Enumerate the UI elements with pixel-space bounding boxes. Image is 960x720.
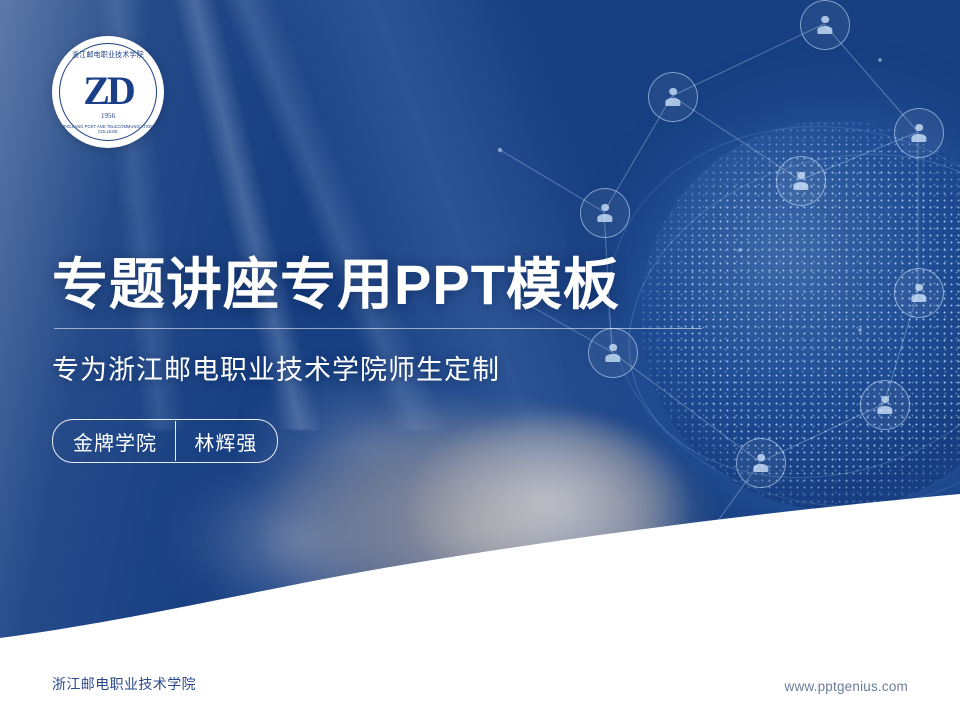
page-title: 专题讲座专用PPT模板	[52, 240, 620, 321]
presenter-badge-left-label: 金牌学院	[73, 427, 157, 456]
presenter-badge-divider	[175, 421, 176, 461]
logo-monogram: ZD	[83, 71, 133, 111]
presenter-badge: 金牌学院 林辉强	[52, 419, 278, 463]
logo-year: 1956	[52, 112, 164, 120]
logo-bottom-text: ZHEJIANG POST AND TELECOMMUNICATION COLL…	[59, 124, 158, 134]
footer-website: www.pptgenius.com	[785, 679, 908, 694]
college-logo: ZD 浙江邮电职业技术学院 1956 ZHEJIANG POST AND TEL…	[52, 36, 164, 148]
page-subtitle: 专为浙江邮电职业技术学院师生定制	[52, 348, 500, 387]
logo-top-text: 浙江邮电职业技术学院	[56, 49, 159, 60]
globe-graphic	[640, 120, 960, 510]
presentation-slide: ZD 浙江邮电职业技术学院 1956 ZHEJIANG POST AND TEL…	[0, 0, 960, 720]
footer-institution: 浙江邮电职业技术学院	[52, 674, 196, 694]
title-divider	[54, 328, 702, 329]
presenter-badge-right-label: 林辉强	[194, 427, 257, 456]
